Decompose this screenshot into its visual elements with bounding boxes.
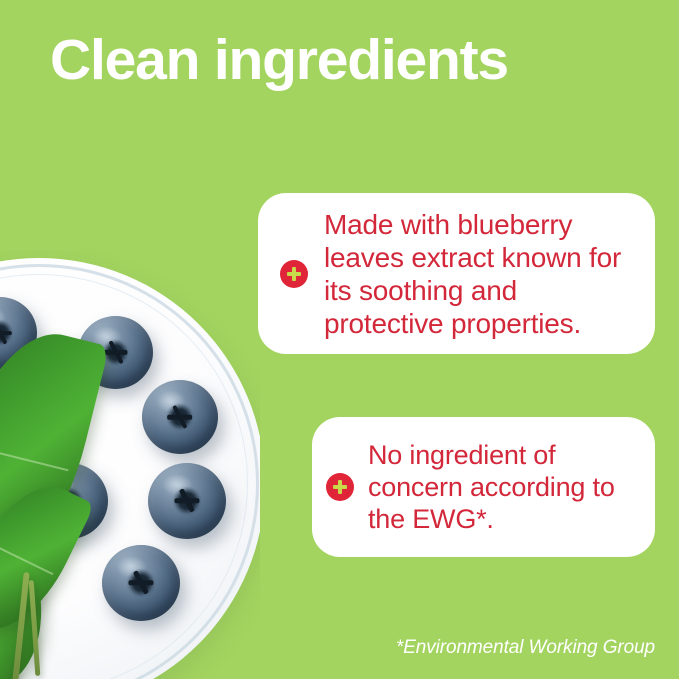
promo-panel: Clean ingredients: [0, 0, 679, 679]
fact-card-text: Made with blueberry leaves extract known…: [324, 208, 639, 340]
fact-card[interactable]: Made with blueberry leaves extract known…: [258, 193, 655, 354]
ingredient-photo: [0, 250, 260, 679]
plus-circle-icon: [280, 260, 308, 288]
page-title: Clean ingredients: [50, 28, 508, 94]
blueberry: [102, 545, 180, 621]
blueberry: [142, 380, 218, 454]
footnote: *Environmental Working Group: [396, 637, 655, 659]
plus-circle-icon: [326, 473, 354, 501]
fact-card[interactable]: No ingredient of concern according to th…: [312, 417, 655, 557]
fact-card-text: No ingredient of concern according to th…: [368, 439, 639, 535]
blueberry: [148, 463, 226, 539]
